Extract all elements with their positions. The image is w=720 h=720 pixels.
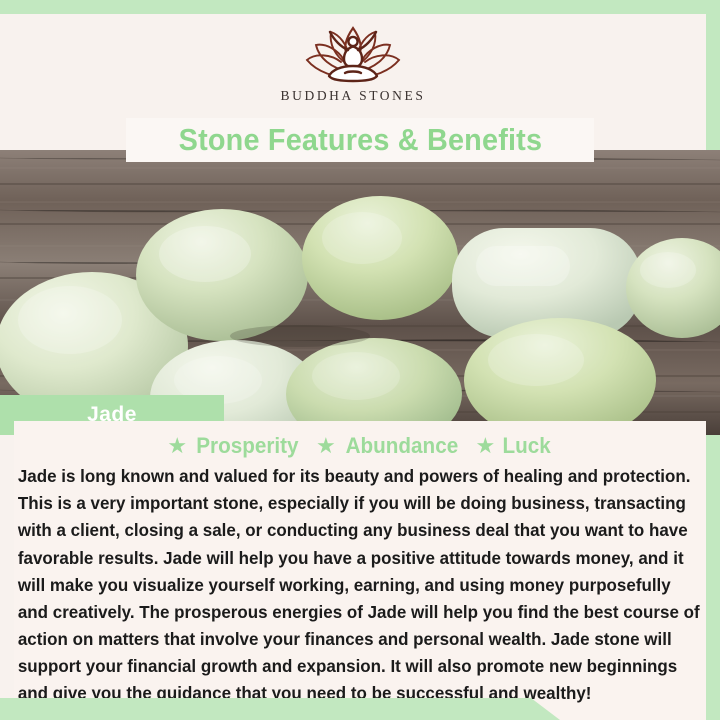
page-title: Stone Features & Benefits [178, 122, 542, 158]
benefits-row: ★ Prosperity ★ Abundance ★ Luck [14, 421, 706, 459]
benefit-item-prosperity: ★ Prosperity [167, 433, 302, 459]
star-icon: ★ [167, 435, 187, 457]
lotus-meditation-icon [291, 20, 415, 86]
star-icon: ★ [476, 435, 496, 457]
benefit-label: Abundance [345, 433, 458, 459]
description-panel: ★ Prosperity ★ Abundance ★ Luck Jade is … [14, 421, 706, 720]
star-icon: ★ [316, 435, 336, 457]
brand-header: BUDDHA STONES [0, 14, 706, 118]
infographic-page: BUDDHA STONES [0, 0, 720, 720]
description-text: Jade is long known and valued for its be… [14, 459, 706, 708]
stone-photo [0, 150, 720, 435]
bottom-accent-bar [0, 698, 560, 720]
benefit-item-abundance: ★ Abundance [316, 433, 462, 459]
benefit-label: Luck [503, 433, 551, 459]
brand-name: BUDDHA STONES [281, 88, 426, 104]
jade-stones-image [0, 150, 720, 435]
title-banner: Stone Features & Benefits [126, 118, 594, 162]
benefit-label: Prosperity [196, 433, 298, 459]
benefit-item-luck: ★ Luck [476, 433, 553, 459]
